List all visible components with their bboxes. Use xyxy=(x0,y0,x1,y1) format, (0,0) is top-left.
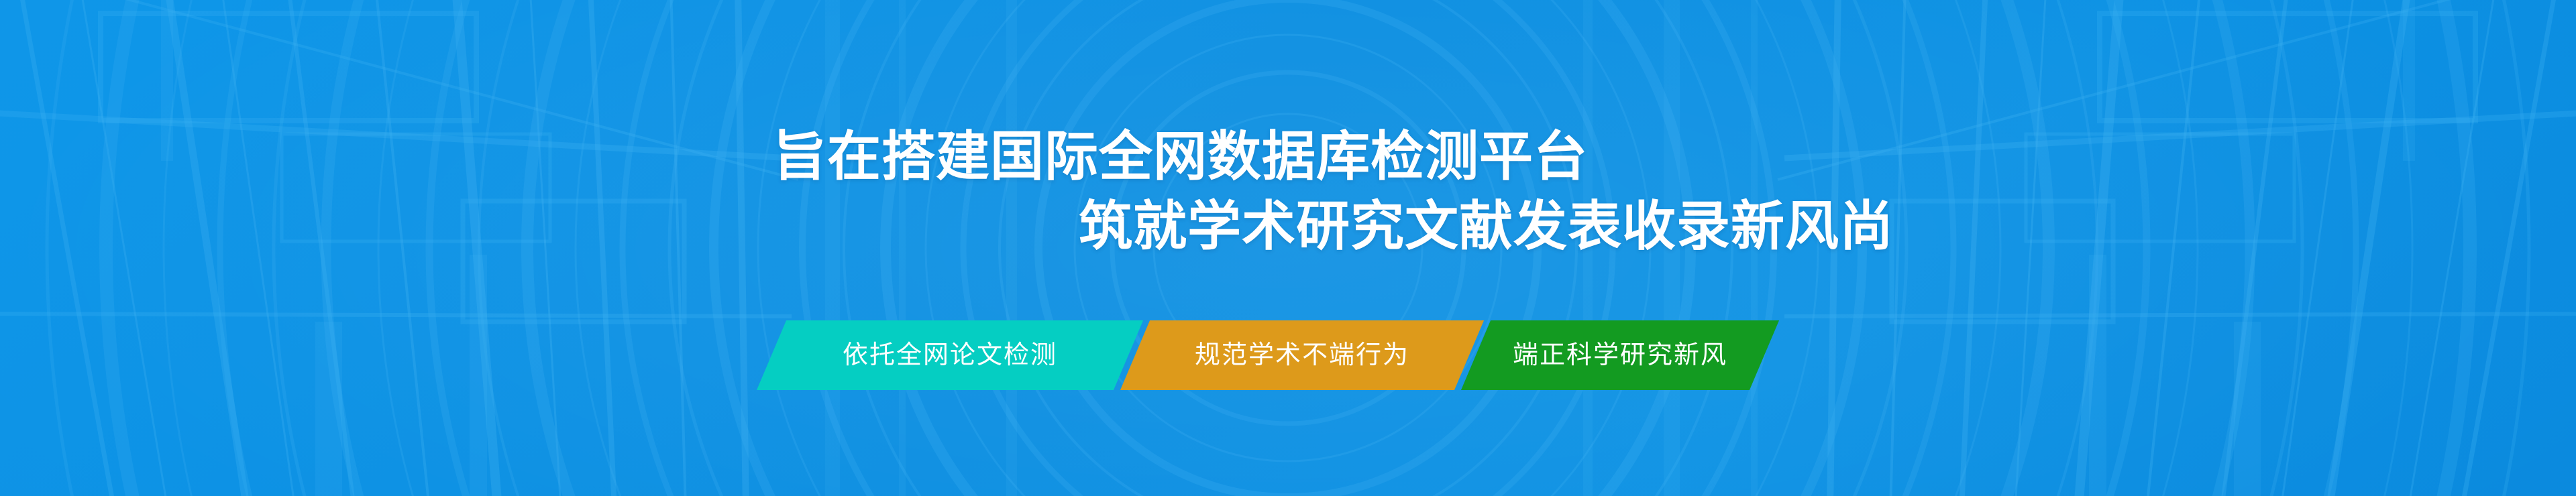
feature-tag-2-label: 规范学术不端行为 xyxy=(1195,343,1409,368)
headline-line-1: 旨在搭建国际全网数据库检测平台 xyxy=(0,122,2576,192)
headline-line-2: 筑就学术研究文献发表收录新风尚 xyxy=(0,192,2576,261)
feature-tag-strip: 依托全网论文检测 规范学术不端行为 端正科学研究新风 xyxy=(771,320,1764,390)
feature-tag-3-label: 端正科学研究新风 xyxy=(1513,343,1727,368)
feature-tag-2[interactable]: 规范学术不端行为 xyxy=(1120,320,1484,390)
feature-tag-1-label: 依托全网论文检测 xyxy=(843,343,1057,368)
feature-tag-1[interactable]: 依托全网论文检测 xyxy=(757,320,1143,390)
headline-block: 旨在搭建国际全网数据库检测平台 筑就学术研究文献发表收录新风尚 xyxy=(0,122,2576,261)
promo-banner: 旨在搭建国际全网数据库检测平台 筑就学术研究文献发表收录新风尚 依托全网论文检测… xyxy=(0,0,2576,496)
feature-tag-3[interactable]: 端正科学研究新风 xyxy=(1461,320,1779,390)
